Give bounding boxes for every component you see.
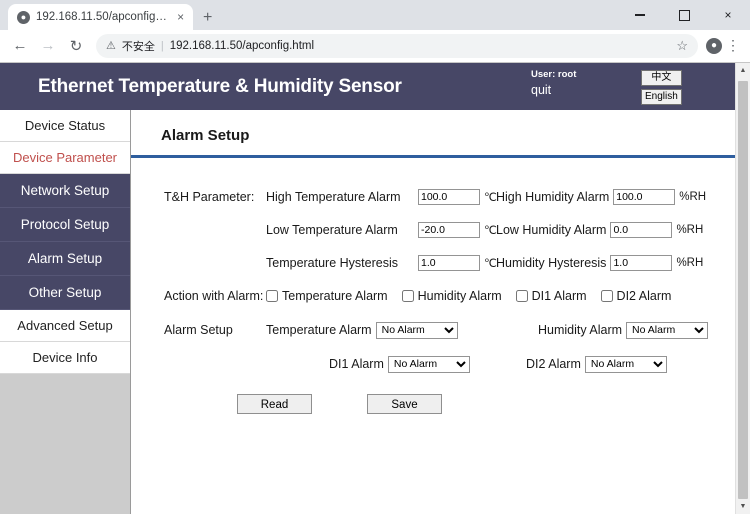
checkbox-humidity-alarm[interactable]: Humidity Alarm bbox=[402, 289, 502, 303]
sidebar-item-device-info[interactable]: Device Info bbox=[0, 342, 130, 374]
low-temp-input[interactable] bbox=[418, 222, 480, 238]
low-temp-unit: ℃ bbox=[484, 223, 497, 237]
browser-window: ● 192.168.11.50/apconfig.html × + × ← → … bbox=[0, 0, 750, 514]
scrollbar-thumb[interactable] bbox=[738, 81, 748, 499]
checkbox-temperature-alarm-input[interactable] bbox=[266, 290, 278, 302]
sidebar-item-device-status[interactable]: Device Status bbox=[0, 110, 130, 142]
high-temp-label: High Temperature Alarm bbox=[266, 190, 414, 204]
hum-hyst-group: Humidity Hysteresis %RH bbox=[496, 255, 703, 271]
lang-english-button[interactable]: English bbox=[641, 89, 682, 105]
browser-tab[interactable]: ● 192.168.11.50/apconfig.html × bbox=[8, 4, 193, 30]
page-viewport: Ethernet Temperature & Humidity Sensor U… bbox=[0, 63, 750, 514]
url-text: 192.168.11.50/apconfig.html bbox=[170, 40, 671, 52]
di2-alarm-select-group: DI2 Alarm No Alarm bbox=[526, 356, 667, 373]
scrollbar-track[interactable] bbox=[736, 78, 750, 499]
temp-hyst-input[interactable] bbox=[418, 255, 480, 271]
temp-hyst-unit: ℃ bbox=[484, 256, 497, 270]
browser-toolbar: ← → ↻ ⚠ 不安全 | 192.168.11.50/apconfig.htm… bbox=[0, 30, 750, 62]
address-bar[interactable]: ⚠ 不安全 | 192.168.11.50/apconfig.html ☆ bbox=[96, 34, 698, 58]
high-temp-unit: ℃ bbox=[484, 190, 497, 204]
maximize-icon[interactable] bbox=[662, 0, 706, 30]
low-temp-group: Low Temperature Alarm ℃ bbox=[266, 222, 496, 238]
scroll-up-icon[interactable]: ▲ bbox=[736, 63, 750, 78]
high-hum-group: High Humidity Alarm %RH bbox=[496, 189, 706, 205]
browser-menu-icon[interactable]: ⋮ bbox=[724, 37, 742, 54]
content-area: Alarm Setup T&H Parameter: High Temperat… bbox=[131, 110, 735, 514]
form-row-alarm-selects-1: Alarm Setup Temperature Alarm No Alarm H… bbox=[131, 313, 735, 347]
di2-alarm-select-label: DI2 Alarm bbox=[526, 357, 581, 371]
globe-icon: ● bbox=[17, 11, 30, 24]
hum-hyst-unit: %RH bbox=[676, 257, 703, 269]
hum-alarm-select-label: Humidity Alarm bbox=[538, 323, 622, 337]
di1-alarm-select-label: DI1 Alarm bbox=[329, 357, 384, 371]
action-with-alarm-label: Action with Alarm: bbox=[131, 289, 266, 303]
quit-link[interactable]: quit bbox=[531, 83, 576, 97]
di1-alarm-select-group: DI1 Alarm No Alarm bbox=[266, 356, 496, 373]
checkbox-di2-alarm-input[interactable] bbox=[601, 290, 613, 302]
form-buttons: Read Save bbox=[131, 394, 735, 414]
sidebar-filler bbox=[0, 374, 130, 514]
high-temp-group: High Temperature Alarm ℃ bbox=[266, 189, 496, 205]
user-label: User: root bbox=[531, 70, 576, 81]
save-button[interactable]: Save bbox=[367, 394, 442, 414]
new-tab-button[interactable]: + bbox=[203, 10, 212, 26]
sidebar: Device Status Device Parameter Network S… bbox=[0, 110, 131, 514]
hum-hyst-label: Humidity Hysteresis bbox=[496, 256, 606, 270]
hum-alarm-select[interactable]: No Alarm bbox=[626, 322, 708, 339]
hum-alarm-select-group: Humidity Alarm No Alarm bbox=[538, 322, 708, 339]
checkbox-di1-alarm-input[interactable] bbox=[516, 290, 528, 302]
read-button[interactable]: Read bbox=[237, 394, 312, 414]
reload-icon[interactable]: ↻ bbox=[64, 34, 88, 58]
alarm-setup-label: Alarm Setup bbox=[131, 323, 266, 337]
tab-strip: ● 192.168.11.50/apconfig.html × + × bbox=[0, 0, 750, 30]
sidebar-item-advanced-setup[interactable]: Advanced Setup bbox=[0, 310, 130, 342]
warning-icon: ⚠ bbox=[106, 39, 116, 52]
low-hum-input[interactable] bbox=[610, 222, 672, 238]
checkbox-humidity-alarm-input[interactable] bbox=[402, 290, 414, 302]
th-parameter-label: T&H Parameter: bbox=[131, 190, 266, 204]
high-hum-input[interactable] bbox=[613, 189, 675, 205]
close-icon[interactable]: × bbox=[174, 10, 187, 24]
high-hum-label: High Humidity Alarm bbox=[496, 190, 609, 204]
omnibox-separator: | bbox=[161, 40, 164, 52]
web-page: Ethernet Temperature & Humidity Sensor U… bbox=[0, 63, 735, 514]
temp-alarm-select-label: Temperature Alarm bbox=[266, 323, 372, 337]
window-controls: × bbox=[618, 0, 750, 30]
temp-hyst-label: Temperature Hysteresis bbox=[266, 256, 414, 270]
checkbox-temperature-alarm[interactable]: Temperature Alarm bbox=[266, 289, 388, 303]
minimize-icon[interactable] bbox=[618, 0, 662, 30]
temp-alarm-select[interactable]: No Alarm bbox=[376, 322, 458, 339]
checkbox-di1-alarm-label: DI1 Alarm bbox=[532, 289, 587, 303]
checkbox-di2-alarm-label: DI2 Alarm bbox=[617, 289, 672, 303]
sidebar-item-alarm-setup[interactable]: Alarm Setup bbox=[0, 242, 130, 276]
content-title: Alarm Setup bbox=[161, 127, 735, 144]
language-switcher: 中文 English bbox=[641, 70, 682, 105]
form-row-hysteresis: Temperature Hysteresis ℃ Humidity Hyster… bbox=[131, 246, 735, 279]
checkbox-di2-alarm[interactable]: DI2 Alarm bbox=[601, 289, 672, 303]
alarm-setup-form: T&H Parameter: High Temperature Alarm ℃ … bbox=[131, 158, 735, 414]
page-scrollbar[interactable]: ▲ ▼ bbox=[735, 63, 750, 514]
checkbox-humidity-alarm-label: Humidity Alarm bbox=[418, 289, 502, 303]
checkbox-group: Temperature Alarm Humidity Alarm DI1 Ala… bbox=[266, 289, 685, 303]
hum-hyst-input[interactable] bbox=[610, 255, 672, 271]
form-row-high: T&H Parameter: High Temperature Alarm ℃ … bbox=[131, 180, 735, 213]
high-hum-unit: %RH bbox=[679, 191, 706, 203]
sidebar-item-device-parameter[interactable]: Device Parameter bbox=[0, 142, 130, 174]
low-hum-unit: %RH bbox=[676, 224, 703, 236]
sidebar-item-other-setup[interactable]: Other Setup bbox=[0, 276, 130, 310]
bookmark-star-icon[interactable]: ☆ bbox=[676, 38, 688, 54]
form-row-actions: Action with Alarm: Temperature Alarm Hum… bbox=[131, 279, 735, 313]
tab-title: 192.168.11.50/apconfig.html bbox=[36, 11, 168, 23]
window-close-icon[interactable]: × bbox=[706, 0, 750, 30]
account-icon[interactable]: ● bbox=[706, 38, 722, 54]
security-status-text: 不安全 bbox=[122, 38, 155, 54]
low-temp-label: Low Temperature Alarm bbox=[266, 223, 414, 237]
low-hum-label: Low Humidity Alarm bbox=[496, 223, 606, 237]
form-row-alarm-selects-2: DI1 Alarm No Alarm DI2 Alarm No Alarm bbox=[131, 347, 735, 381]
sidebar-item-network-setup[interactable]: Network Setup bbox=[0, 174, 130, 208]
site-header: Ethernet Temperature & Humidity Sensor U… bbox=[0, 63, 735, 110]
scroll-down-icon[interactable]: ▼ bbox=[736, 499, 750, 514]
form-row-low: Low Temperature Alarm ℃ Low Humidity Ala… bbox=[131, 213, 735, 246]
di1-alarm-select[interactable]: No Alarm bbox=[388, 356, 470, 373]
low-hum-group: Low Humidity Alarm %RH bbox=[496, 222, 703, 238]
temp-hyst-group: Temperature Hysteresis ℃ bbox=[266, 255, 496, 271]
toolbar-right-group: ● ⋮ bbox=[706, 37, 742, 54]
lang-chinese-button[interactable]: 中文 bbox=[641, 70, 682, 86]
high-temp-input[interactable] bbox=[418, 189, 480, 205]
back-icon[interactable]: ← bbox=[8, 34, 32, 58]
checkbox-di1-alarm[interactable]: DI1 Alarm bbox=[516, 289, 587, 303]
di2-alarm-select[interactable]: No Alarm bbox=[585, 356, 667, 373]
checkbox-temperature-alarm-label: Temperature Alarm bbox=[282, 289, 388, 303]
user-block: User: root quit bbox=[531, 70, 576, 97]
sidebar-item-protocol-setup[interactable]: Protocol Setup bbox=[0, 208, 130, 242]
page-title: Ethernet Temperature & Humidity Sensor bbox=[38, 76, 402, 98]
body-row: Device Status Device Parameter Network S… bbox=[0, 110, 735, 514]
temp-alarm-select-group: Temperature Alarm No Alarm bbox=[266, 322, 496, 339]
forward-icon[interactable]: → bbox=[36, 34, 60, 58]
